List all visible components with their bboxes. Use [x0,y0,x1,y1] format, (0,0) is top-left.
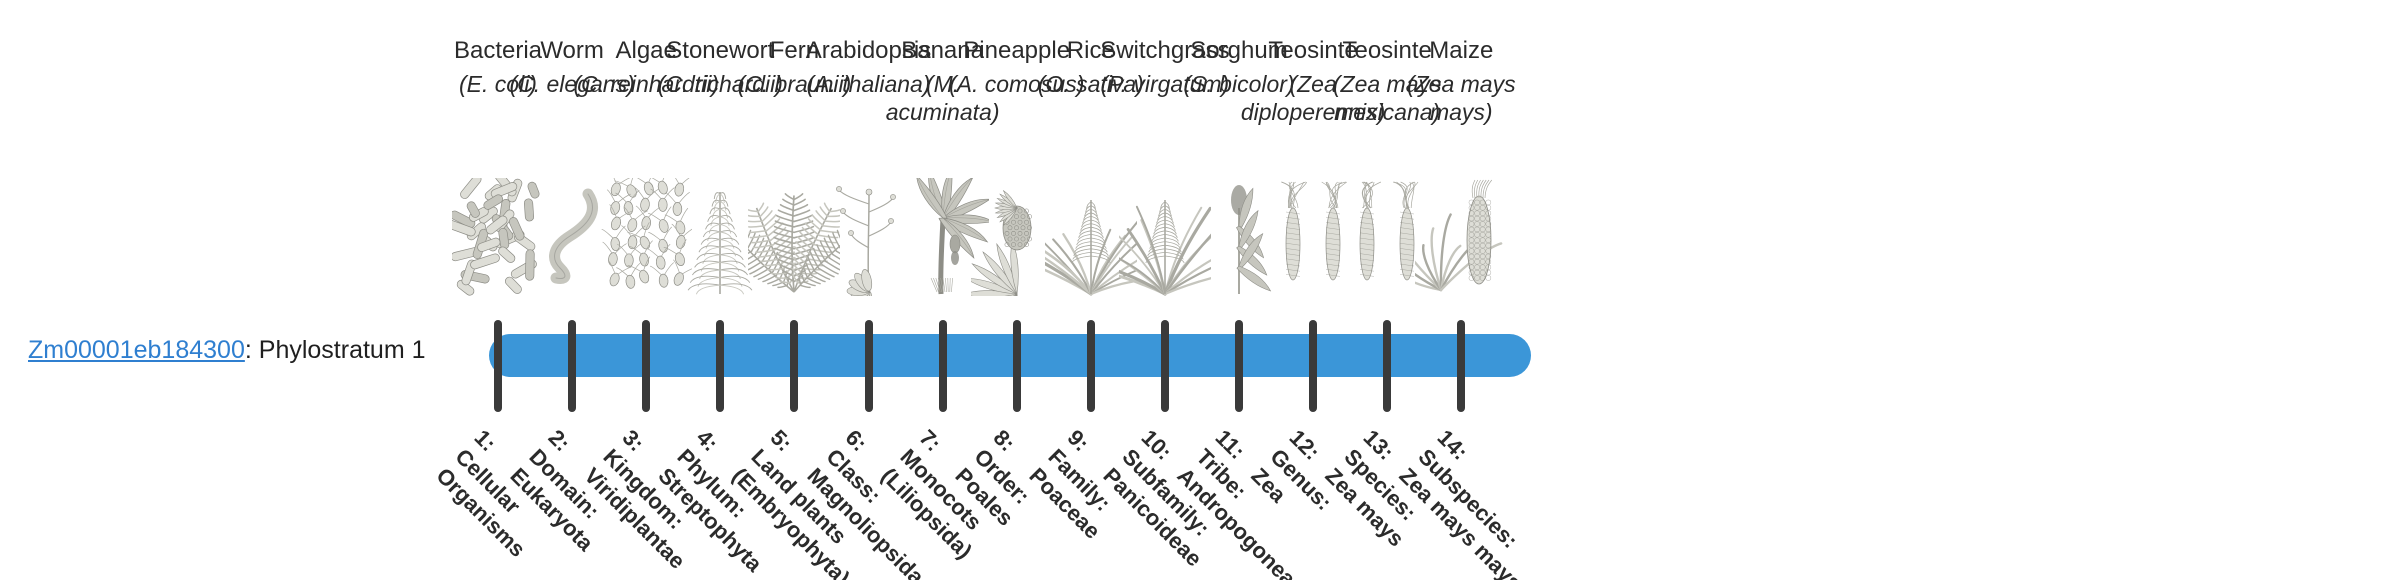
phylostratum-tick-6[interactable] [865,320,873,412]
phylostratum-tick-1[interactable] [494,320,502,412]
phylostratum-figure: Zm00001eb184300: Phylostratum 1 Bacteria… [0,0,2400,580]
gene-id-link[interactable]: Zm00001eb184300 [28,336,245,364]
phylostratum-tick-2[interactable] [568,320,576,412]
phylostratum-tick-11[interactable] [1235,320,1243,412]
gene-label-separator: : [245,336,259,364]
phylostratum-tick-13[interactable] [1383,320,1391,412]
phylostratum-tick-3[interactable] [642,320,650,412]
phylostratum-tick-10[interactable] [1161,320,1169,412]
phylostratum-tick-5[interactable] [790,320,798,412]
phylostratum-tick-7[interactable] [939,320,947,412]
phylostratum-tick-8[interactable] [1013,320,1021,412]
species-latin-name: (Zea mays mays) [1387,70,1535,126]
phylostratum-tick-14[interactable] [1457,320,1465,412]
maize-illustration [1411,168,1511,296]
species-common-name: Maize [1387,36,1535,65]
gene-phylostratum-value: Phylostratum 1 [259,336,426,364]
phylostratum-tick-12[interactable] [1309,320,1317,412]
phylostratum-tick-9[interactable] [1087,320,1095,412]
gene-phylostratum-label: Zm00001eb184300: Phylostratum 1 [28,335,448,365]
phylostratum-tick-4[interactable] [716,320,724,412]
